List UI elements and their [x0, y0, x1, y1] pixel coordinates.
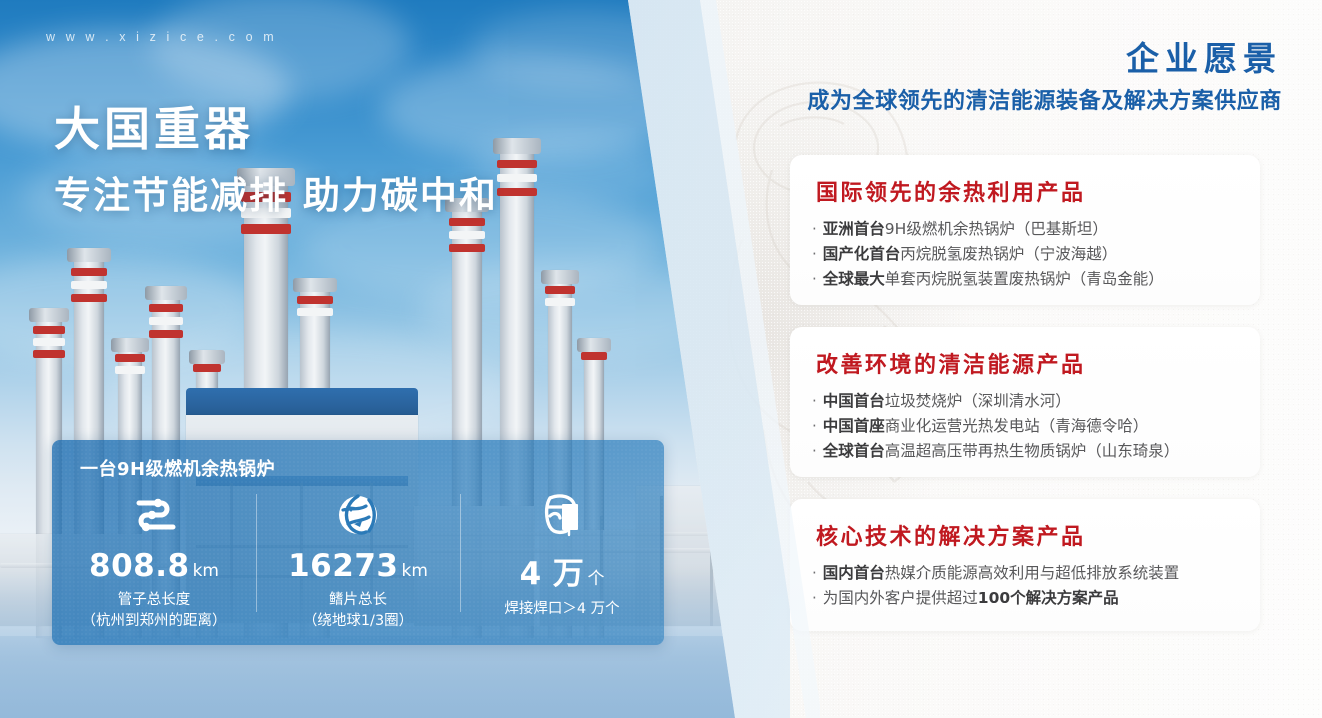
bullet-item: ·亚洲首台9H级燃机余热锅炉（巴基斯坦） [812, 217, 1246, 242]
bullet-rest: 垃圾焚烧炉（深圳清水河） [885, 392, 1071, 410]
stat-label: 管子总长度（杭州到郑州的距离） [82, 590, 227, 632]
stat-number: 4 万 [520, 556, 585, 592]
vision-card: 改善环境的清洁能源产品·中国首台垃圾焚烧炉（深圳清水河）·中国首座商业化运营光热… [790, 327, 1260, 477]
bullet-dot-icon: · [812, 414, 817, 438]
bullet-rest: 高温超高压带再热生物质锅炉（山东琦泉） [885, 442, 1180, 460]
stats-panel: 一台9H级燃机余热锅炉 808.8km管子总长度（杭州到郑州的距离） 16273… [52, 440, 664, 645]
plant-roof [186, 388, 418, 418]
bullet-text: 中国首座商业化运营光热发电站（青海德令哈） [823, 414, 1149, 439]
headline-sub: 专注节能减排 助力碳中和 [54, 175, 674, 218]
stat-number: 16273 [288, 548, 398, 584]
bullet-rest: 热媒介质能源高效利用与超低排放系统装置 [885, 564, 1180, 582]
bullet-item: ·为国内外客户提供超过100个解决方案产品 [812, 586, 1246, 611]
stats-columns: 808.8km管子总长度（杭州到郑州的距离） 16273km鳍片总长（绕地球1/… [52, 488, 664, 645]
bullet-text: 国产化首台丙烷脱氢废热锅炉（宁波海越） [823, 242, 1118, 267]
stat-unit: 个 [587, 569, 604, 589]
bullet-rest: 商业化运营光热发电站（青海德令哈） [885, 417, 1149, 435]
bullet-dot-icon: · [812, 389, 817, 413]
bullet-item: ·国产化首台丙烷脱氢废热锅炉（宁波海越） [812, 242, 1246, 267]
site-watermark: w w w . x i z i c e . c o m [46, 30, 277, 44]
bullet-strong: 国内首台 [823, 564, 885, 582]
vision-card-title: 国际领先的余热利用产品 [816, 175, 1086, 207]
bullet-strong: 中国首台 [823, 392, 885, 410]
hero-headline: 大国重器 专注节能减排 助力碳中和 [54, 104, 674, 217]
bullet-text: 国内首台热媒介质能源高效利用与超低排放系统装置 [823, 561, 1180, 586]
bullet-text: 全球首台高温超高压带再热生物质锅炉（山东琦泉） [823, 439, 1180, 464]
vision-card-bullets: ·国内首台热媒介质能源高效利用与超低排放系统装置·为国内外客户提供超过100个解… [812, 561, 1246, 611]
stat-label: 焊接焊口＞4 万个 [504, 599, 619, 620]
stat-label-line: 焊接焊口＞4 万个 [504, 599, 619, 620]
welding-helmet-icon [538, 492, 586, 538]
stat-label-line: （绕地球1/3圈） [303, 611, 413, 632]
stat-label-line: 管子总长度 [82, 590, 227, 611]
bullet-text: 全球最大单套丙烷脱氢装置废热锅炉（青岛金能） [823, 267, 1164, 292]
stat-label-line: （杭州到郑州的距离） [82, 611, 227, 632]
stat-column: 16273km鳍片总长（绕地球1/3圈） [256, 488, 460, 645]
pipeline-route-icon [127, 492, 181, 538]
bullet-dot-icon: · [812, 439, 817, 463]
bullet-rest: 9H级燃机余热锅炉（巴基斯坦） [885, 220, 1108, 238]
bullet-text: 亚洲首台9H级燃机余热锅炉（巴基斯坦） [823, 217, 1108, 242]
bullet-dot-icon: · [812, 586, 817, 610]
stat-column: 808.8km管子总长度（杭州到郑州的距离） [52, 488, 256, 645]
stat-label-line: 鳍片总长 [303, 590, 413, 611]
bullet-strong: 全球首台 [823, 442, 885, 460]
stat-label: 鳍片总长（绕地球1/3圈） [303, 590, 413, 632]
slide-root: 企业愿景 成为全球领先的清洁能源装备及解决方案供应商 国际领先的余热利用产品·亚… [0, 0, 1322, 718]
vision-card: 核心技术的解决方案产品·国内首台热媒介质能源高效利用与超低排放系统装置·为国内外… [790, 499, 1260, 631]
bullet-dot-icon: · [812, 242, 817, 266]
vision-card: 国际领先的余热利用产品·亚洲首台9H级燃机余热锅炉（巴基斯坦）·国产化首台丙烷脱… [790, 155, 1260, 305]
bullet-item: ·中国首台垃圾焚烧炉（深圳清水河） [812, 389, 1246, 414]
ground-foreground [0, 636, 760, 718]
bullet-rest: 单套丙烷脱氢装置废热锅炉（青岛金能） [885, 270, 1164, 288]
stat-column: 4 万个焊接焊口＞4 万个 [460, 488, 664, 645]
bullet-dot-icon: · [812, 217, 817, 241]
bullet-strong: 中国首座 [823, 417, 885, 435]
bullet-item: ·全球首台高温超高压带再热生物质锅炉（山东琦泉） [812, 439, 1246, 464]
vision-card-bullets: ·中国首台垃圾焚烧炉（深圳清水河）·中国首座商业化运营光热发电站（青海德令哈）·… [812, 389, 1246, 464]
stat-value: 808.8km [89, 548, 219, 584]
vision-card-title: 改善环境的清洁能源产品 [816, 347, 1086, 379]
headline-main: 大国重器 [54, 104, 674, 155]
stat-value: 16273km [288, 548, 428, 584]
vision-card-title: 核心技术的解决方案产品 [816, 519, 1086, 551]
stat-unit: km [193, 561, 219, 581]
stat-unit: km [401, 561, 427, 581]
bullet-dot-icon: · [812, 561, 817, 585]
bullet-rest: 丙烷脱氢废热锅炉（宁波海越） [900, 245, 1117, 263]
bullet-strong: 亚洲首台 [823, 220, 885, 238]
bullet-item: ·全球最大单套丙烷脱氢装置废热锅炉（青岛金能） [812, 267, 1246, 292]
bullet-strong-tail: 100个解决方案产品 [978, 589, 1119, 607]
globe-icon [336, 492, 380, 538]
bullet-item: ·国内首台热媒介质能源高效利用与超低排放系统装置 [812, 561, 1246, 586]
bullet-item: ·中国首座商业化运营光热发电站（青海德令哈） [812, 414, 1246, 439]
bullet-text: 中国首台垃圾焚烧炉（深圳清水河） [823, 389, 1071, 414]
bullet-dot-icon: · [812, 267, 817, 291]
bullet-strong: 国产化首台 [823, 245, 901, 263]
bullet-text: 为国内外客户提供超过100个解决方案产品 [823, 586, 1119, 611]
bullet-rest: 为国内外客户提供超过 [823, 589, 978, 607]
stat-number: 808.8 [89, 548, 190, 584]
stats-panel-title: 一台9H级燃机余热锅炉 [80, 455, 275, 481]
vision-card-bullets: ·亚洲首台9H级燃机余热锅炉（巴基斯坦）·国产化首台丙烷脱氢废热锅炉（宁波海越）… [812, 217, 1246, 292]
bullet-strong: 全球最大 [823, 270, 885, 288]
stat-value: 4 万个 [520, 548, 605, 593]
